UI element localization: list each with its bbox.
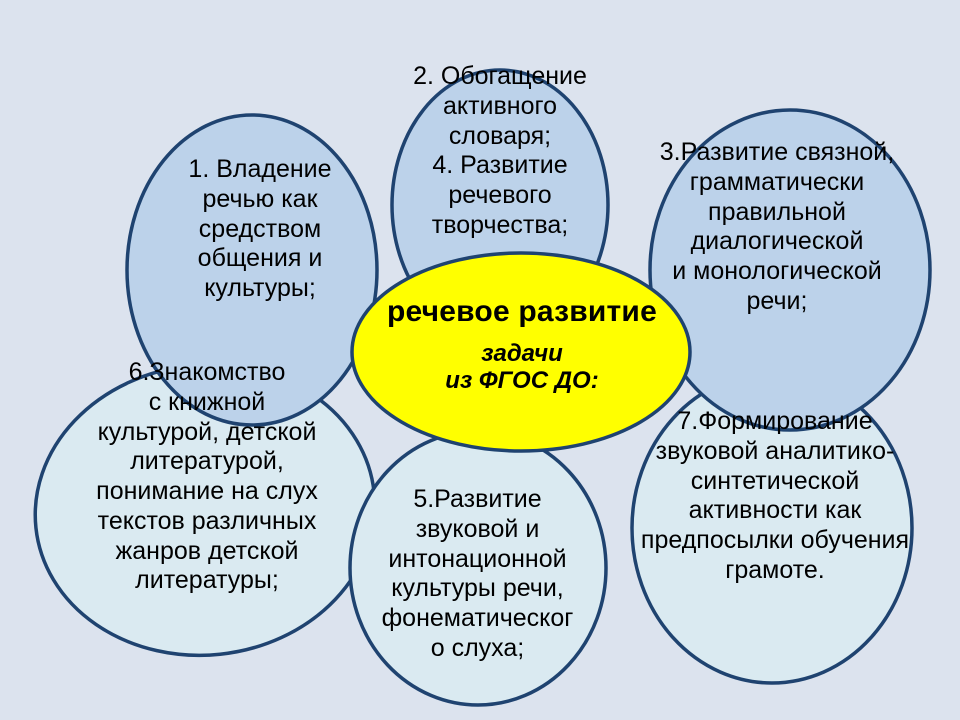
petal-shape-3[interactable] [650,110,930,430]
petal-shape-1[interactable] [127,115,377,425]
diagram-canvas: 1. Владение речью как средством общения … [0,0,960,720]
petal-shape-5[interactable] [350,431,606,705]
center-ellipse[interactable] [352,253,690,451]
flower-diagram-shapes [0,0,960,720]
